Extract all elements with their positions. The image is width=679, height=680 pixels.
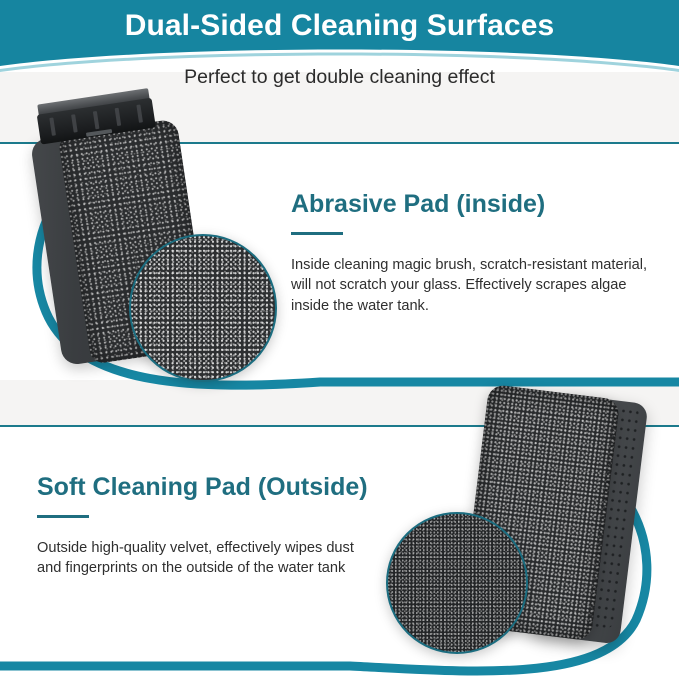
abrasive-section-body: Inside cleaning magic brush, scratch-res… xyxy=(291,255,651,317)
bracket-rib xyxy=(115,108,122,126)
bracket-rib xyxy=(71,114,78,132)
soft-section: Soft Cleaning Pad (Outside) Outside high… xyxy=(37,473,377,579)
page-subtitle: Perfect to get double cleaning effect xyxy=(0,66,679,89)
abrasive-title-underline xyxy=(291,232,343,235)
soft-title-underline xyxy=(37,515,89,518)
abrasive-section: Abrasive Pad (inside) Inside cleaning ma… xyxy=(291,190,651,317)
abrasive-texture-closeup xyxy=(129,234,277,382)
velvet-texture-closeup xyxy=(386,512,528,654)
bracket-rib xyxy=(136,104,143,122)
abrasive-section-title: Abrasive Pad (inside) xyxy=(291,190,651,219)
soft-section-title: Soft Cleaning Pad (Outside) xyxy=(37,473,377,502)
soft-section-body: Outside high-quality velvet, effectively… xyxy=(37,538,359,579)
bracket-notch xyxy=(86,129,112,137)
bracket-rib xyxy=(49,117,56,135)
bracket-rib xyxy=(93,111,100,129)
page-title: Dual-Sided Cleaning Surfaces xyxy=(0,0,679,52)
infographic-page: Dual-Sided Cleaning Surfaces Perfect to … xyxy=(0,0,679,680)
